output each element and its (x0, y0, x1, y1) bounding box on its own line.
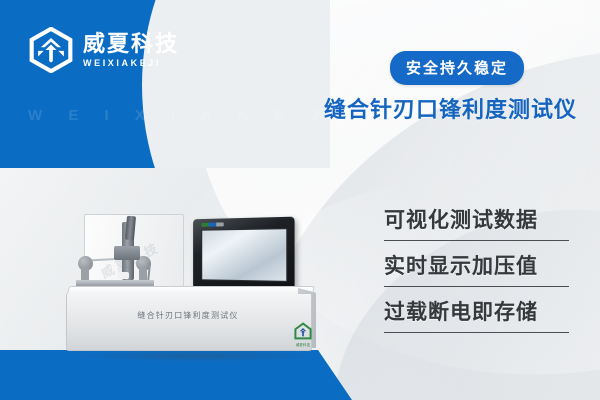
feature-label: 可视化测试数据 (384, 204, 580, 234)
page-title: 缝合针刃口锋利度测试仪 (324, 92, 577, 124)
feature-label: 实时显示加压值 (384, 250, 580, 280)
machine-company-logo: 威夏科技 (290, 322, 316, 352)
hmi-touchscreen-icon[interactable] (193, 217, 294, 292)
brand-text: 威夏科技 WEIXIAKEJI (83, 32, 179, 67)
feature-label: 过载断电即存储 (384, 296, 580, 326)
brand-name-cn: 威夏科技 (83, 32, 179, 55)
tagline-badge: 安全持久稳定 (390, 51, 524, 85)
brand-logo[interactable]: 威夏科技 WEIXIAKEJI (28, 27, 179, 73)
feature-divider (384, 332, 569, 334)
machine-company-logo-text: 威夏科技 (296, 343, 310, 347)
machine-model-label: 缝合针刃口锋利度测试仪 (66, 310, 310, 321)
product-shadow (68, 350, 326, 362)
feature-divider (384, 286, 569, 288)
hmi-display[interactable] (201, 228, 287, 282)
feature-divider (384, 240, 569, 242)
feature-item: 可视化测试数据 (384, 204, 580, 241)
feature-item: 过载断电即存储 (384, 296, 580, 333)
brand-name-en: WEIXIAKEJI (83, 59, 179, 68)
feature-item: 实时显示加压值 (384, 250, 580, 287)
hmi-brand-strip (201, 222, 223, 226)
green-company-logo-icon (292, 322, 314, 342)
poster-canvas: W E I X I A K E J I 威夏科技 WEIXIAKEJI 安全持久… (0, 0, 600, 400)
feature-list: 可视化测试数据 实时显示加压值 过载断电即存储 (384, 204, 580, 342)
blue-header-block (0, 0, 330, 168)
machine-front-panel (66, 294, 312, 351)
brand-watermark: W E I X I A K E J I (28, 107, 278, 124)
blue-header-curve-cut (142, 0, 330, 168)
hexagon-arrow-logo-icon (28, 27, 74, 73)
